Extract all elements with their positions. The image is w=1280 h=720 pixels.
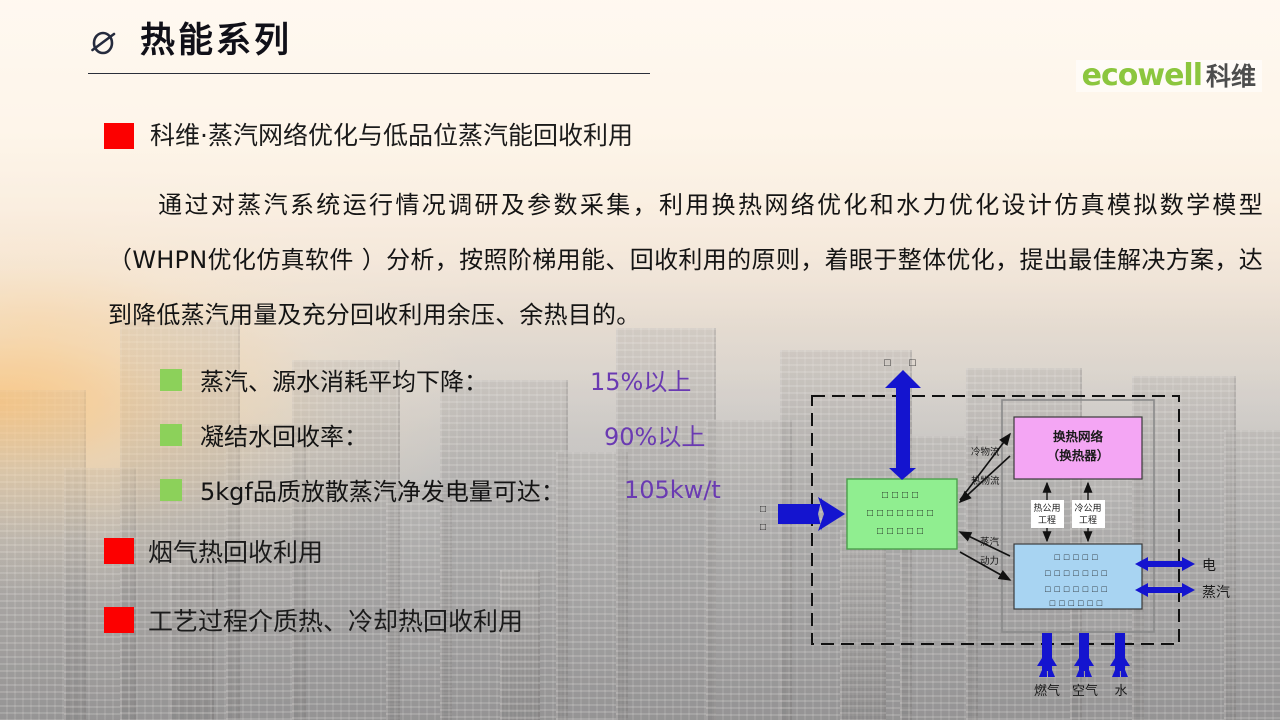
sub-heading-flue-gas: 烟气热回收利用 [104,533,323,569]
sub-heading-label: 工艺过程介质热、冷却热回收利用 [148,602,523,638]
cold-utility-label-line1: 冷公用 [1074,502,1101,514]
red-bullet-square [104,538,134,564]
bottom-input-label-0: 燃气 [1034,683,1060,699]
stream-label-steam: 蒸汽 [980,536,1000,548]
hot-utility-label-line1: 热公用 [1033,502,1060,514]
red-bullet-square [104,123,134,149]
list-item: 5kgf品质放散蒸汽净发电量可达： 105kw/t [160,462,565,517]
bottom-input-label-2: 水 [1114,684,1127,699]
section-heading-label: 科维·蒸汽网络优化与低品位蒸汽能回收利用 [150,122,633,150]
left-input-label-1: □ [760,505,766,516]
stream-label-power: 动力 [980,555,999,567]
left-input-label-2: □ [760,523,766,534]
slide-content: 科维·蒸汽网络优化与低品位蒸汽能回收利用 通过对蒸汽系统运行情况调研及参数采集，… [0,0,1280,720]
stat-label: 凝结水回收率： [200,417,368,452]
stat-value: 90%以上 [604,417,705,452]
right-output-label-0: 电 [1202,558,1216,574]
sub-heading-label: 烟气热回收利用 [148,533,323,569]
stream-label-hot: 热物流 [971,475,1000,487]
heat-network-label-line2: （换热器） [1047,448,1110,463]
process-box-label-row3: □□□□□ [877,527,927,538]
utility-box-label-row2: □□□□□□□ [1045,569,1111,579]
utility-box-label-row1: □□□□□ [1054,553,1101,563]
stats-list: 蒸汽、源水消耗平均下降： 15%以上 凝结水回收率： 90%以上 5kgf品质放… [160,352,565,517]
list-item: 蒸汽、源水消耗平均下降： 15%以上 [160,352,565,407]
right-output-label-1: 蒸汽 [1202,585,1230,601]
process-box-label-row2: □□□□□□□ [867,509,937,520]
utility-box-label-row3: □□□□□□□ [1045,585,1111,595]
right-output-arrows [1135,557,1195,597]
stat-label: 5kgf品质放散蒸汽净发电量可达： [200,472,565,507]
stat-value: 105kw/t [624,476,721,504]
stat-value: 15%以上 [590,362,691,397]
cold-utility-label-line2: 工程 [1079,515,1097,526]
top-output-arrow [885,370,921,480]
stream-label-cold: 冷物流 [971,446,1000,458]
utility-box-label-row4: □□□□□□ [1050,599,1106,609]
section-heading: 科维·蒸汽网络优化与低品位蒸汽能回收利用 [104,122,633,150]
stat-label: 蒸汽、源水消耗平均下降： [200,362,488,397]
process-flow-diagram: □□□□ □□□□□□□ □□□□□ 换热网络 （换热器） □□□□□ □□□□… [752,352,1272,702]
top-output-label: □ □ [884,358,922,370]
green-bullet-square [160,369,182,391]
hot-utility-label-line2: 工程 [1038,515,1056,526]
heat-network-label-line1: 换热网络 [1053,429,1104,444]
body-paragraph: 通过对蒸汽系统运行情况调研及参数采集，利用换热网络优化和水力优化设计仿真模拟数学… [108,178,1263,343]
red-bullet-square [104,607,134,633]
body-paragraph-text: 通过对蒸汽系统运行情况调研及参数采集，利用换热网络优化和水力优化设计仿真模拟数学… [108,191,1263,329]
process-box-label-row1: □□□□ [882,491,922,502]
green-bullet-square [160,424,182,446]
bottom-input-arrows [1037,633,1130,677]
presentation-slide: 热能系列 ecowell 科维 科维·蒸汽网络优化与低品位蒸汽能回收利用 通过对… [0,0,1280,720]
bottom-input-label-1: 空气 [1072,683,1098,699]
green-bullet-square [160,479,182,501]
sub-heading-process-heat: 工艺过程介质热、冷却热回收利用 [104,602,523,638]
list-item: 凝结水回收率： 90%以上 [160,407,565,462]
